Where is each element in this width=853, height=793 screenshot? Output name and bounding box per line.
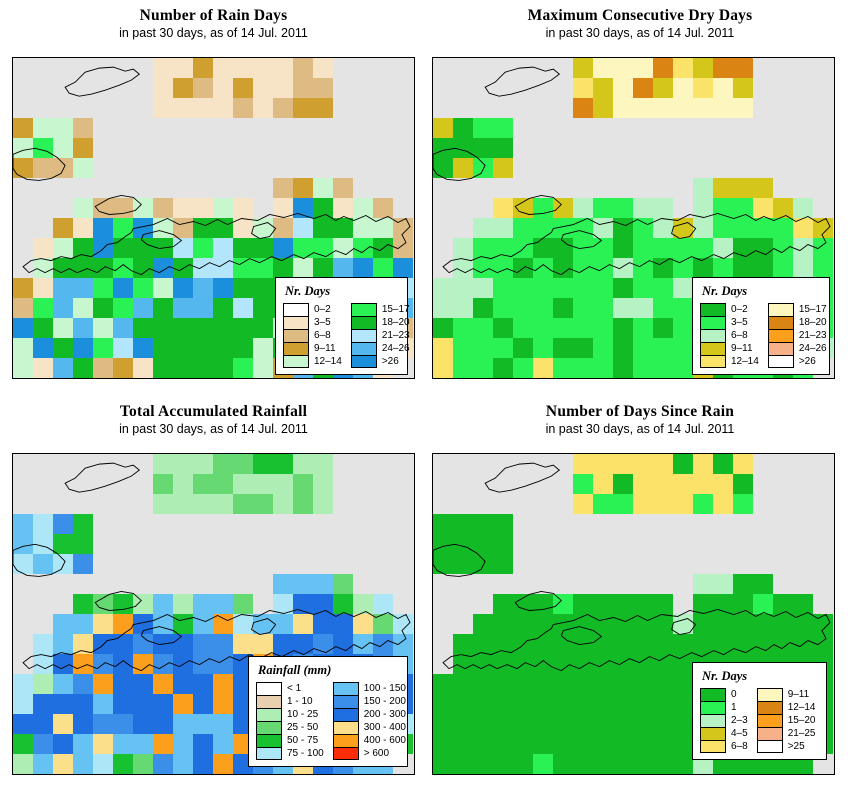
legend-label: 12–14 [788,701,816,714]
raster-cell [353,238,373,258]
raster-cell [573,614,593,634]
raster-cell [513,198,533,218]
raster-cell [173,634,193,654]
raster-cell [493,298,513,318]
raster-cell [73,754,93,774]
raster-cell [173,674,193,694]
raster-cell [273,58,293,78]
raster-cell [273,98,293,118]
panel-rain-days: Number of Rain Days in past 30 days, as … [0,0,427,396]
raster-cell [453,554,473,574]
legend-entry: 200 - 300 [333,708,406,721]
raster-cell [493,238,513,258]
raster-cell [673,298,693,318]
raster-cell [313,454,333,474]
raster-cell [733,258,753,278]
raster-cell [13,674,33,694]
raster-cell [53,138,73,158]
raster-cell [493,654,513,674]
raster-cell [473,674,493,694]
raster-cell [233,198,253,218]
raster-cell [253,318,273,338]
raster-cell [573,454,593,474]
raster-cell [573,754,593,774]
raster-cell [553,238,573,258]
raster-cell [493,218,513,238]
raster-cell [253,58,273,78]
raster-cell [173,734,193,754]
raster-cell [273,198,293,218]
raster-cell [313,474,333,494]
legend-swatch [333,708,359,721]
raster-cell [453,138,473,158]
legend-swatch [333,734,359,747]
legend-swatch [757,714,783,727]
raster-cell [93,594,113,614]
raster-cell [593,714,613,734]
raster-cell [273,594,293,614]
raster-cell [593,674,613,694]
raster-cell [53,754,73,774]
raster-cell [793,634,813,654]
raster-cell [73,278,93,298]
raster-cell [173,318,193,338]
raster-cell [513,654,533,674]
raster-cell [733,614,753,634]
raster-cell [433,674,453,694]
raster-cell [773,634,793,654]
legend-label: >26 [799,355,816,368]
raster-cell [573,258,593,278]
raster-cell [273,454,293,474]
raster-cell [73,634,93,654]
raster-cell [153,474,173,494]
raster-cell [513,278,533,298]
raster-cell [573,238,593,258]
legend-label: 50 - 75 [287,734,318,747]
raster-cell [433,278,453,298]
raster-cell [253,238,273,258]
raster-cell [153,634,173,654]
raster-cell [193,654,213,674]
raster-cell [293,594,313,614]
raster-cell [213,454,233,474]
raster-cell [513,238,533,258]
raster-cell [273,494,293,514]
raster-cell [213,198,233,218]
legend-label: 18–20 [799,316,827,329]
raster-cell [313,614,333,634]
raster-cell [533,714,553,734]
legend-entry: 2–3 [700,714,748,727]
raster-cell [653,318,673,338]
legend-entry: 150 - 200 [333,695,406,708]
raster-cell [133,654,153,674]
raster-cell [293,218,313,238]
raster-cell [13,554,33,574]
raster-cell [173,98,193,118]
legend-swatch [283,355,309,368]
raster-cell [753,258,773,278]
raster-cell [633,298,653,318]
raster-cell [693,594,713,614]
raster-cell [633,654,653,674]
raster-cell [653,614,673,634]
legend-label: 100 - 150 [364,682,406,695]
raster-cell [33,534,53,554]
raster-cell [253,98,273,118]
raster-cell [253,218,273,238]
raster-cell [113,298,133,318]
raster-cell [113,694,133,714]
legend-entry: 15–17 [768,303,827,316]
raster-cell [473,358,493,378]
raster-cell [193,734,213,754]
raster-cell [73,654,93,674]
raster-cell [633,78,653,98]
raster-cell [253,258,273,278]
raster-cell [333,574,353,594]
legend-entry: 24–26 [351,342,410,355]
raster-cell [193,238,213,258]
raster-cell [633,198,653,218]
raster-cell [153,338,173,358]
legend-entry: 0–2 [283,303,342,316]
raster-cell [553,634,573,654]
raster-cell [553,318,573,338]
raster-cell [133,258,153,278]
raster-cell [193,754,213,774]
raster-cell [133,238,153,258]
raster-cell [493,714,513,734]
raster-cell [733,574,753,594]
raster-cell [673,654,693,674]
raster-cell [613,654,633,674]
raster-cell [93,694,113,714]
raster-cell [53,634,73,654]
raster-cell [173,298,193,318]
legend-swatch [351,342,377,355]
raster-cell [133,694,153,714]
raster-cell [213,674,233,694]
raster-cell [53,278,73,298]
raster-cell [713,238,733,258]
raster-cell [133,674,153,694]
raster-cell [53,534,73,554]
raster-cell [473,534,493,554]
legend-swatch [283,342,309,355]
raster-cell [533,734,553,754]
raster-cell [153,614,173,634]
raster-cell [113,634,133,654]
raster-cell [653,654,673,674]
raster-cell [433,118,453,138]
legend-label: 6–8 [731,329,748,342]
raster-cell [613,594,633,614]
legend-entry: 21–23 [351,329,410,342]
legend-label: 0–2 [314,303,331,316]
raster-cell [513,694,533,714]
raster-cell [553,594,573,614]
raster-cell [113,594,133,614]
raster-cell [333,218,353,238]
raster-cell [513,298,533,318]
legend-entry: 21–25 [757,727,816,740]
raster-cell [253,474,273,494]
legend-column-right: 15–1718–2021–2324–26>26 [351,303,410,368]
raster-cell [313,494,333,514]
raster-cell [533,238,553,258]
raster-cell [593,298,613,318]
raster-cell [33,318,53,338]
raster-cell [73,218,93,238]
raster-cell [633,734,653,754]
raster-cell [493,338,513,358]
raster-cell [673,454,693,474]
raster-cell [73,714,93,734]
raster-cell [373,218,393,238]
legend-swatch [351,329,377,342]
legend-label: 6–8 [314,329,331,342]
raster-cell [493,674,513,694]
raster-cell [233,358,253,378]
raster-cell [13,734,33,754]
raster-cell [633,714,653,734]
legend-swatch [700,714,726,727]
raster-cell [133,754,153,774]
raster-cell [533,654,553,674]
raster-cell [593,238,613,258]
raster-cell [373,594,393,614]
raster-cell [493,278,513,298]
raster-cell [713,594,733,614]
legend-swatch [700,342,726,355]
panel-title: Total Accumulated Rainfall [0,402,427,421]
raster-cell [133,338,153,358]
legend-column-left: 0–23–56–89–1112–14 [700,303,759,368]
raster-cell [573,694,593,714]
raster-cell [293,614,313,634]
legend-swatch [700,727,726,740]
raster-cell [253,634,273,654]
raster-cell [673,358,693,378]
raster-cell [173,338,193,358]
raster-cell [133,318,153,338]
raster-cell [313,258,333,278]
raster-cell [493,754,513,774]
raster-cell [53,614,73,634]
raster-cell [253,358,273,378]
raster-cell [453,534,473,554]
raster-cell [173,594,193,614]
legend-label: 25 - 50 [287,721,318,734]
raster-cell [773,218,793,238]
raster-cell [193,318,213,338]
raster-cell [633,278,653,298]
raster-cell [93,754,113,774]
raster-cell [633,634,653,654]
raster-cell [153,734,173,754]
raster-cell [453,714,473,734]
panel-subtitle: in past 30 days, as of 14 Jul. 2011 [0,25,427,42]
legend-rain-days: Nr. Days 0–23–56–89–1112–14 15–1718–2021… [275,277,408,375]
raster-cell [733,218,753,238]
legend-entry: 15–17 [351,303,410,316]
raster-cell [693,494,713,514]
legend-entry: 100 - 150 [333,682,406,695]
raster-cell [613,714,633,734]
legend-swatch [700,329,726,342]
raster-cell [733,474,753,494]
raster-cell [633,238,653,258]
raster-cell [613,258,633,278]
raster-cell [613,454,633,474]
panel-max-dry-days: Maximum Consecutive Dry Days in past 30 … [427,0,853,396]
raster-cell [713,614,733,634]
raster-cell [93,278,113,298]
legend-label: 15–17 [382,303,410,316]
legend-entry: 9–11 [283,342,342,355]
raster-cell [473,714,493,734]
raster-cell [513,358,533,378]
raster-cell [453,298,473,318]
raster-cell [793,258,813,278]
raster-cell [613,338,633,358]
raster-cell [573,474,593,494]
raster-cell [673,734,693,754]
raster-cell [473,258,493,278]
raster-cell [553,754,573,774]
raster-cell [13,158,33,178]
raster-cell [193,594,213,614]
raster-cell [213,338,233,358]
legend-swatch [768,342,794,355]
raster-cell [33,514,53,534]
legend-label: 10 - 25 [287,708,318,721]
legend-entry: 21–23 [768,329,827,342]
raster-cell [333,614,353,634]
raster-cell [473,238,493,258]
legend-entry: 25 - 50 [256,721,324,734]
raster-cell [573,338,593,358]
raster-cell [493,534,513,554]
raster-cell [33,338,53,358]
raster-cell [653,238,673,258]
legend-label: 6–8 [731,740,748,753]
raster-cell [213,58,233,78]
legend-entry: 6–8 [700,740,748,753]
raster-cell [73,258,93,278]
raster-cell [633,474,653,494]
raster-cell [33,138,53,158]
raster-cell [593,754,613,774]
raster-cell [493,158,513,178]
raster-cell [193,494,213,514]
raster-cell [573,634,593,654]
raster-cell [573,494,593,514]
raster-cell [313,78,333,98]
raster-cell [153,318,173,338]
legend-column-left: 0–23–56–89–1112–14 [283,303,342,368]
raster-cell [33,258,53,278]
raster-cell [53,118,73,138]
raster-cell [713,78,733,98]
raster-cell [693,634,713,654]
raster-cell [173,358,193,378]
raster-cell [213,614,233,634]
raster-cell [293,178,313,198]
raster-cell [633,358,653,378]
raster-cell [73,694,93,714]
legend-total-rainfall: Rainfall (mm) < 11 - 1010 - 2525 - 5050 … [248,656,408,767]
raster-cell [473,614,493,634]
raster-cell [753,574,773,594]
raster-cell [693,614,713,634]
raster-cell [193,218,213,238]
raster-cell [53,358,73,378]
raster-cell [433,714,453,734]
raster-cell [153,674,173,694]
raster-cell [593,454,613,474]
raster-cell [673,78,693,98]
raster-cell [353,634,373,654]
raster-cell [153,494,173,514]
panel-subtitle: in past 30 days, as of 14 Jul. 2011 [427,421,853,438]
raster-cell [553,654,573,674]
raster-cell [233,78,253,98]
raster-cell [493,554,513,574]
raster-cell [513,714,533,734]
raster-cell [533,674,553,694]
raster-cell [153,218,173,238]
raster-cell [673,218,693,238]
raster-cell [473,694,493,714]
raster-cell [653,474,673,494]
raster-cell [93,298,113,318]
raster-cell [513,674,533,694]
legend-entry: 6–8 [700,329,759,342]
raster-cell [593,614,613,634]
raster-cell [333,198,353,218]
raster-cell [113,734,133,754]
raster-cell [13,514,33,534]
raster-cell [553,218,573,238]
raster-cell [353,614,373,634]
raster-cell [653,278,673,298]
legend-label: 15–20 [788,714,816,727]
legend-swatch [757,727,783,740]
legend-swatch [333,747,359,760]
raster-cell [633,674,653,694]
raster-cell [73,534,93,554]
raster-cell [73,198,93,218]
raster-cell [93,338,113,358]
raster-cell [653,694,673,714]
legend-title: Nr. Days [702,284,822,299]
raster-cell [653,198,673,218]
raster-cell [193,358,213,378]
raster-cell [573,594,593,614]
raster-cell [773,614,793,634]
raster-cell [713,574,733,594]
raster-cell [733,594,753,614]
raster-cell [373,258,393,278]
raster-cell [213,98,233,118]
raster-cell [493,614,513,634]
raster-cell [133,198,153,218]
legend-swatch [283,303,309,316]
legend-label: >25 [788,740,805,753]
